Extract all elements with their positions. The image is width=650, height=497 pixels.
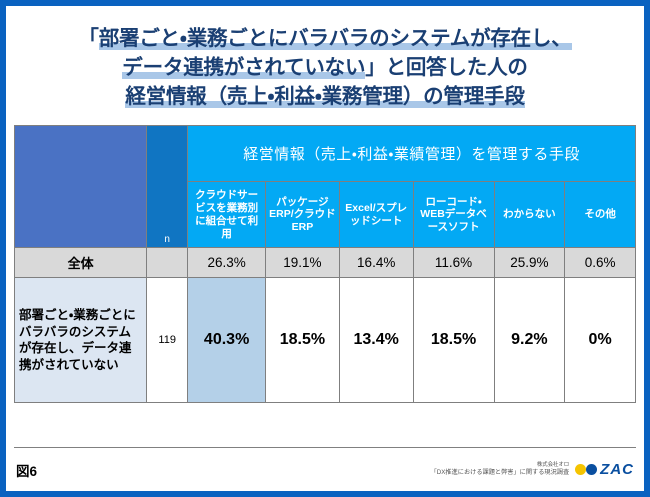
title-highlight-3: 経営情報（売上・利益・業務管理）の管理手段	[125, 85, 524, 108]
slide-footer: 図6 株式会社オロ 「DX推進における課題と弊害」に関する現況調査 ZAC	[14, 447, 636, 491]
zac-logo: ZAC	[575, 461, 634, 478]
credit-block: 株式会社オロ 「DX推進における課題と弊害」に関する現況調査 ZAC	[431, 461, 634, 478]
table-corner-cell	[15, 126, 147, 248]
cell-segment-other: 0%	[565, 278, 636, 403]
table-body: 全体 26.3% 19.1% 16.4% 11.6% 25.9% 0.6% 部署…	[15, 248, 636, 403]
title-line-2-tail: 」と回答した人の	[365, 56, 527, 79]
cell-segment-unknown: 9.2%	[494, 278, 565, 403]
page-title: 「部署ごと・業務ごとにバラバラのシステムが存在し、 データ連携がされていない」と…	[6, 6, 644, 117]
slide-body: 「部署ごと・業務ごとにバラバラのシステムが存在し、 データ連携がされていない」と…	[6, 6, 644, 491]
cell-total-unknown: 25.9%	[494, 248, 565, 278]
logo-dot-blue-icon	[586, 464, 597, 475]
column-header-unknown: わからない	[494, 182, 565, 248]
title-highlight-1: 部署ごと・業務ごとにバラバラのシステムが存在し、	[99, 27, 572, 50]
table-header: n 経営情報（売上・利益・業績管理）を管理する手段 クラウドサービスを業務別に組…	[15, 126, 636, 248]
table-row: 部署ごと・業務ごとにバラバラのシステムが存在し、データ連携がされていない 119…	[15, 278, 636, 403]
column-header-cloud-service: クラウドサービスを業務別に組合せて利用	[188, 182, 266, 248]
row-n-segment: 119	[147, 278, 188, 403]
title-line-3: 経営情報（売上・利益・業務管理）の管理手段	[20, 82, 630, 111]
column-header-package-erp: パッケージERP/クラウドERP	[266, 182, 340, 248]
cell-segment-excel-spreadsheet: 13.4%	[339, 278, 413, 403]
row-n-total	[147, 248, 188, 278]
slide-frame: 「部署ごと・業務ごとにバラバラのシステムが存在し、 データ連携がされていない」と…	[0, 0, 650, 497]
title-line-1: 「部署ごと・業務ごとにバラバラのシステムが存在し、	[20, 24, 630, 53]
row-label-total: 全体	[15, 248, 147, 278]
column-header-n: n	[147, 126, 188, 248]
column-group-header: 経営情報（売上・利益・業績管理）を管理する手段	[188, 126, 636, 182]
cell-total-cloud-service: 26.3%	[188, 248, 266, 278]
credit-survey-name: 「DX推進における課題と弊害」に関する現況調査	[431, 469, 570, 477]
cell-total-lowcode-webdb: 11.6%	[413, 248, 494, 278]
cell-segment-package-erp: 18.5%	[266, 278, 340, 403]
figure-label: 図6	[16, 460, 37, 480]
credit-company-name: 株式会社オロ	[431, 462, 570, 469]
cell-total-package-erp: 19.1%	[266, 248, 340, 278]
title-highlight-2: データ連携がされていない	[122, 56, 365, 79]
data-table-container: n 経営情報（売上・利益・業績管理）を管理する手段 クラウドサービスを業務別に組…	[6, 117, 644, 443]
logo-dot-yellow-icon	[575, 464, 586, 475]
title-line-2: データ連携がされていない」と回答した人の	[20, 53, 630, 82]
logo-wordmark: ZAC	[600, 461, 634, 478]
column-header-lowcode-webdb: ローコード・WEBデータベースソフト	[413, 182, 494, 248]
column-header-excel-spreadsheet: Excel/スプレッドシート	[339, 182, 413, 248]
row-label-segment: 部署ごと・業務ごとにバラバラのシステムが存在し、データ連携がされていない	[15, 278, 147, 403]
cell-total-excel-spreadsheet: 16.4%	[339, 248, 413, 278]
cell-total-other: 0.6%	[565, 248, 636, 278]
table-header-row-group: n 経営情報（売上・利益・業績管理）を管理する手段	[15, 126, 636, 182]
table-row: 全体 26.3% 19.1% 16.4% 11.6% 25.9% 0.6%	[15, 248, 636, 278]
title-quote-open: 「	[78, 27, 98, 50]
cell-segment-lowcode-webdb: 18.5%	[413, 278, 494, 403]
cell-segment-cloud-service: 40.3%	[188, 278, 266, 403]
column-header-other: その他	[565, 182, 636, 248]
credit-text: 株式会社オロ 「DX推進における課題と弊害」に関する現況調査	[431, 462, 570, 477]
results-table: n 経営情報（売上・利益・業績管理）を管理する手段 クラウドサービスを業務別に組…	[14, 125, 636, 403]
